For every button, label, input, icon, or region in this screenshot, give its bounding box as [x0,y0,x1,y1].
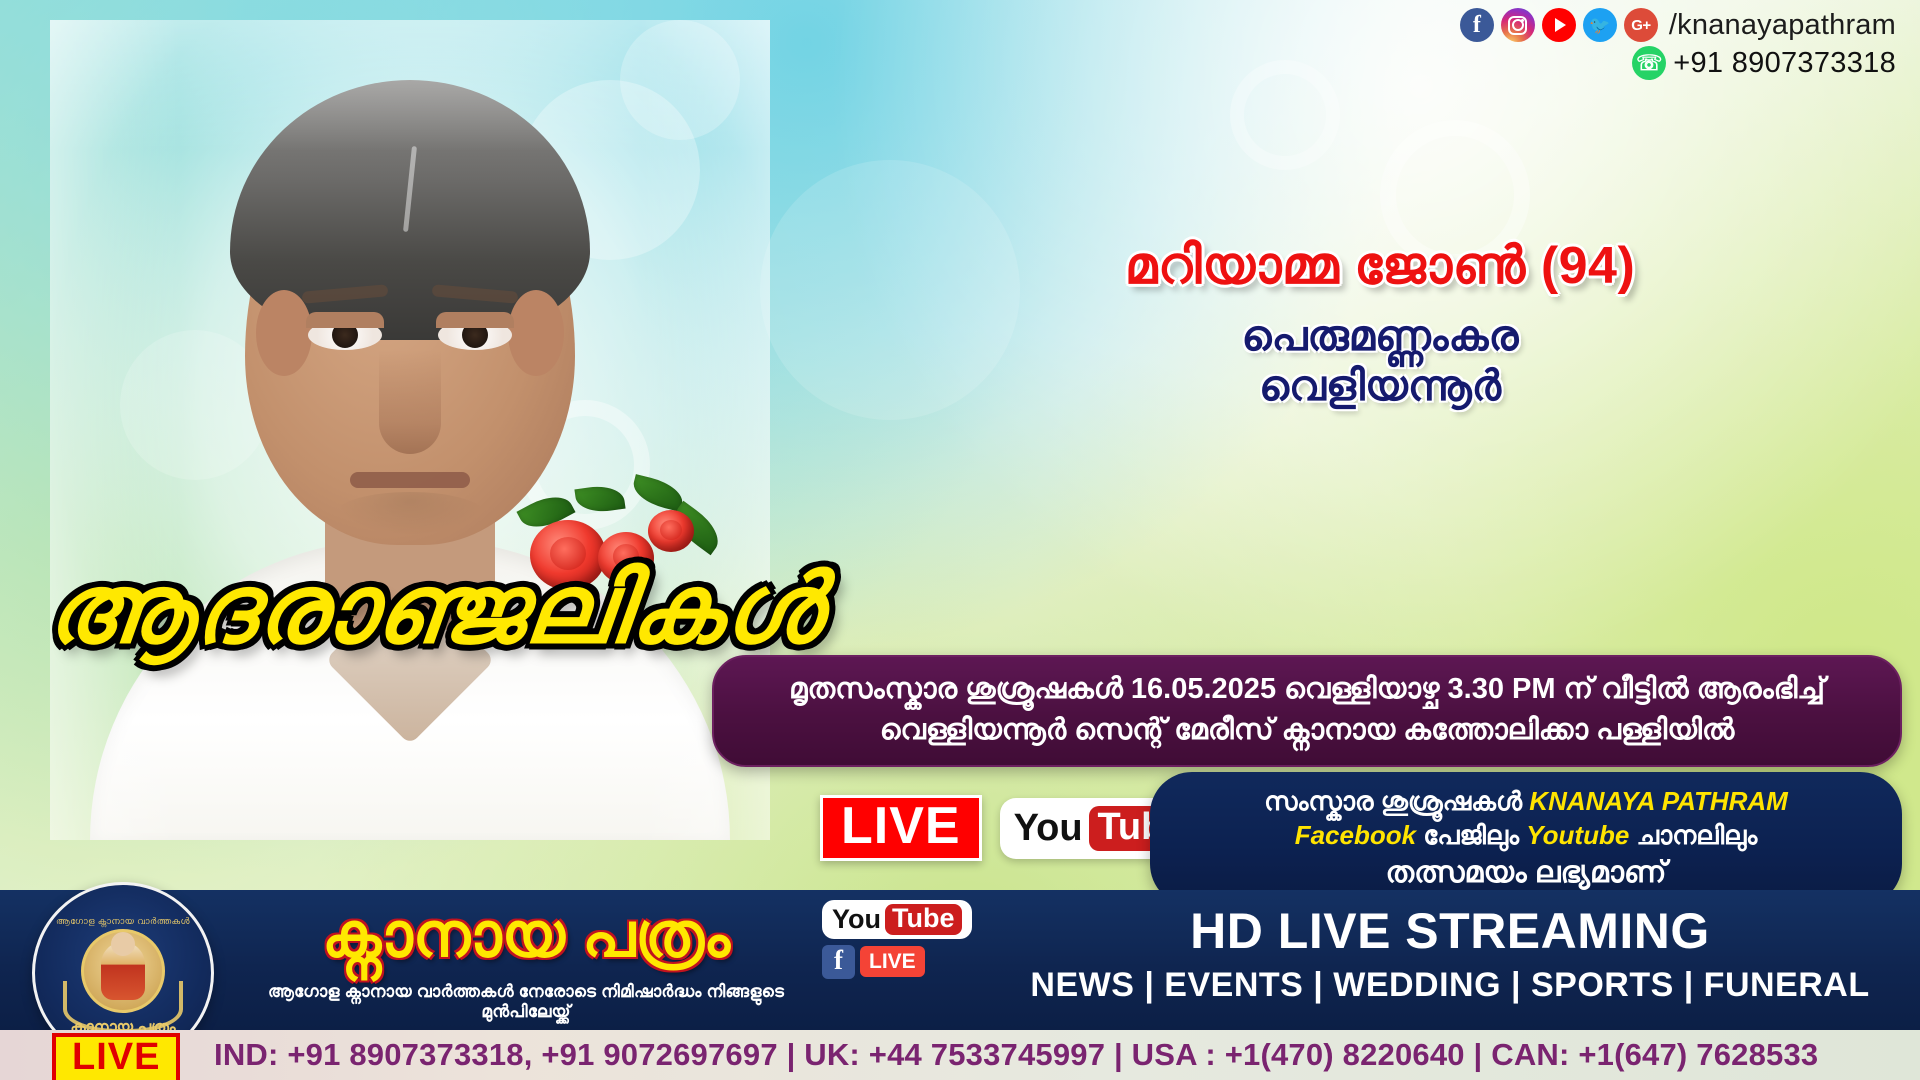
social-media-header: f 🐦 G+ /knanayapathram ☏ +91 8907373318 [1460,8,1896,80]
whatsapp-icon[interactable]: ☏ [1632,46,1666,80]
portrait-mouth [350,472,470,488]
googleplus-icon[interactable]: G+ [1624,8,1658,42]
deceased-place-line1: പെരുമണ്ണംകര [870,312,1890,361]
facebook-icon[interactable]: f [1460,8,1494,42]
stream-note-brand: KNANAYA PATHRAM [1529,786,1788,816]
social-icons-row: f 🐦 G+ /knanayapathram [1460,8,1896,42]
funeral-details-box: മൃതസംസ്കാര ശുശ്രൂഷകൾ 16.05.2025 വെള്ളിയാ… [712,655,1902,767]
stream-note-line-3: തത്സമയം ലഭ്യമാണ് [1176,853,1876,893]
live-badge[interactable]: LIVE [820,795,982,861]
portrait-eyelid-left [306,312,384,328]
logo-arc-text: ആഗോള ക്നാനായ വാർത്തകൾ [56,916,190,927]
stream-note-l2-d: ചാനലിലും [1629,820,1757,850]
deceased-place-line2: വെളിയന്നൂർ [870,362,1890,411]
portrait-eyelid-right [436,312,514,328]
youtube-you-text: You [1014,809,1083,847]
hd-live-streaming-categories: NEWS | EVENTS | WEDDING | SPORTS | FUNER… [1000,966,1900,1005]
social-handle: /knanayapathram [1669,9,1896,42]
footer-facebook-live-text: LIVE [860,946,925,977]
footer-live-badge[interactable]: LIVE [52,1033,180,1080]
rose-icon [648,510,694,552]
whatsapp-row: ☏ +91 8907373318 [1632,46,1896,80]
memorial-poster: ആദരാഞ്ജലികൾ f 🐦 G+ /knanayapathram ☏ +91… [0,0,1920,1080]
stream-note-l2-b: പേജിലും [1416,820,1526,850]
footer-banner: ആഗോള ക്നാനായ വാർത്തകൾ ക്നാനായ പത്രം LIVE… [0,890,1920,1080]
youtube-icon[interactable] [1542,8,1576,42]
footer-brand-title: ക്നാനായ പത്രം [246,900,806,972]
footer-brand-tagline: ആഗോള ക്നാനായ വാർത്തകൾ നേരോടെ നിമിഷാർദ്ധം… [246,982,806,1022]
funeral-line-2: വെള്ളിയന്നൂർ സെന്റ് മേരീസ് ക്നാനായ കത്തോ… [740,710,1874,751]
ship-icon [63,981,183,1033]
footer-contact-bar: IND: +91 8907373318, +91 9072697697 | UK… [0,1030,1920,1080]
footer-contact-numbers: IND: +91 8907373318, +91 9072697697 | UK… [214,1037,1818,1073]
portrait-chin [335,492,485,536]
hd-live-streaming-title: HD LIVE STREAMING [1000,902,1900,960]
portrait-nose [379,350,441,454]
twitter-icon[interactable]: 🐦 [1583,8,1617,42]
facebook-icon: f [822,945,855,979]
deceased-portrait-photo [50,20,770,840]
footer-youtube-tube: Tube [885,904,962,935]
deceased-name: മറിയാമ്മ ജോൺ (94) [870,236,1890,297]
streaming-note-box: സംസ്കാര ശുശ്രൂഷകൾ KNANAYA PATHRAM Facebo… [1150,772,1902,906]
stream-note-l1-text: സംസ്കാര ശുശ്രൂഷകൾ [1264,786,1529,816]
tribute-headline: ആദരാഞ്ജലികൾ [42,555,829,667]
footer-youtube-you: You [832,906,881,933]
bokeh-circle [1230,60,1340,170]
footer-facebook-live-badge[interactable]: f LIVE [822,945,925,979]
stream-note-line-1: സംസ്കാര ശുശ്രൂഷകൾ KNANAYA PATHRAM [1176,784,1876,818]
header-phone-number: +91 8907373318 [1673,47,1896,80]
portrait-ear-right [508,290,564,376]
instagram-icon[interactable] [1501,8,1535,42]
footer-youtube-badge[interactable]: You Tube [822,900,972,939]
funeral-line-1: മൃതസംസ്കാര ശുശ്രൂഷകൾ 16.05.2025 വെള്ളിയാ… [740,669,1874,710]
stream-note-line-2: Facebook പേജിലും Youtube ചാനലിലും [1176,818,1876,852]
stream-note-facebook: Facebook [1295,820,1416,850]
leaf-icon [574,483,625,515]
footer-social-badges: You Tube f LIVE [822,900,972,979]
portrait-ear-left [256,290,312,376]
stream-note-youtube: Youtube [1526,820,1629,850]
